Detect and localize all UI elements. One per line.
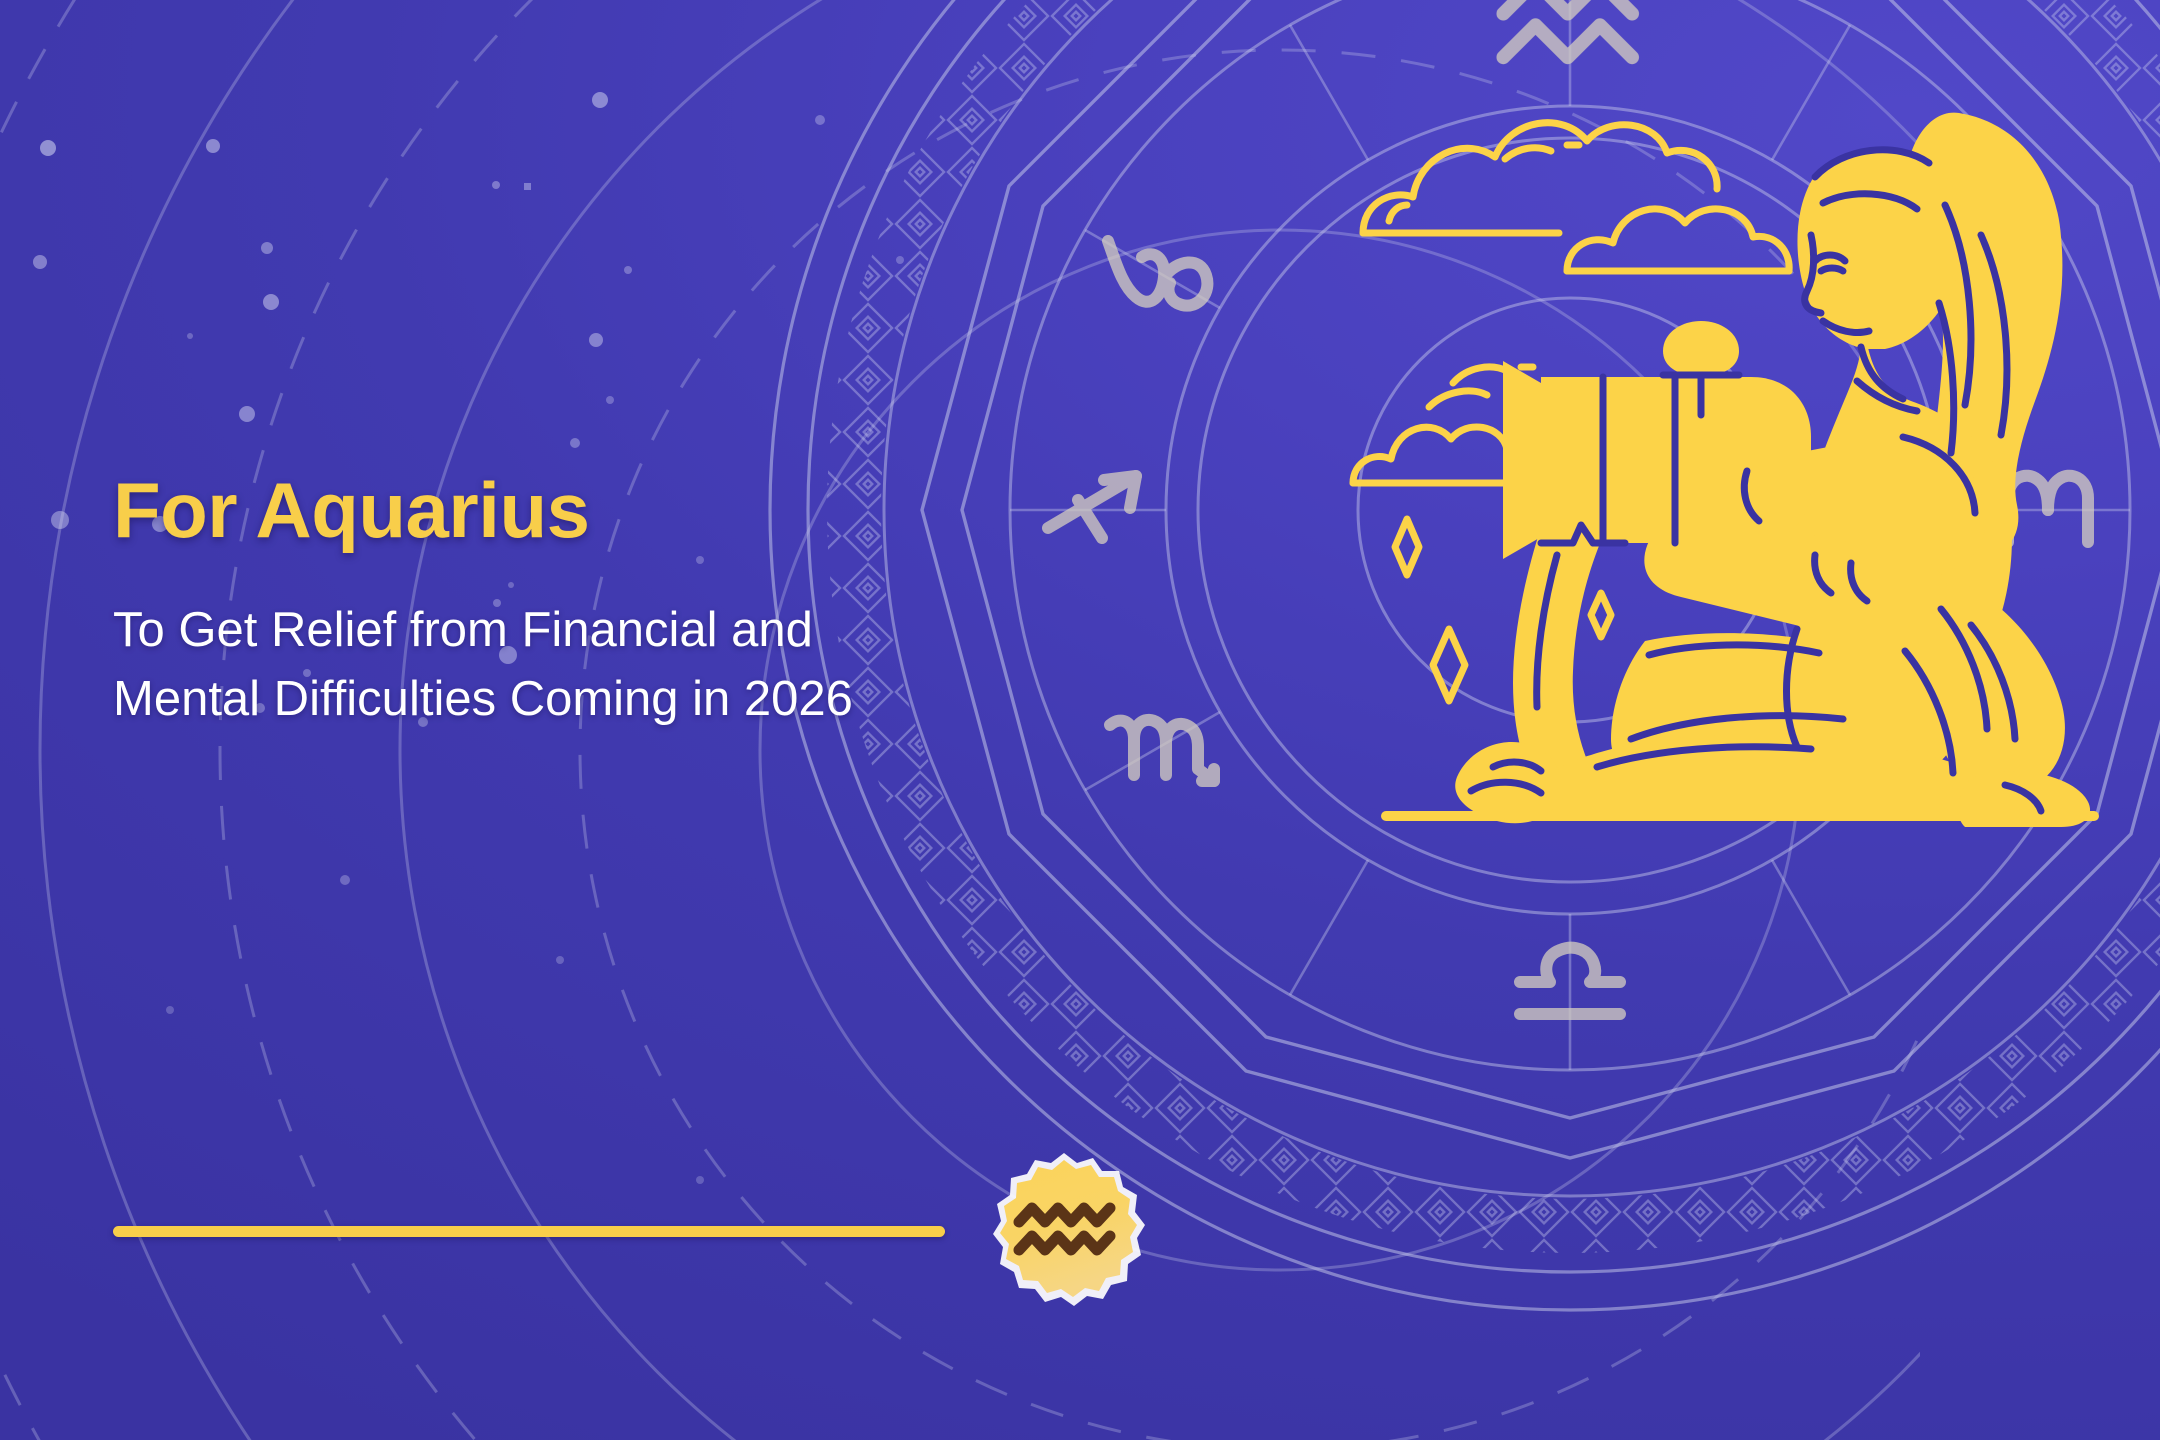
- scorpio-glyph: [1110, 720, 1214, 781]
- capricorn-glyph: [1108, 241, 1207, 306]
- yellow-divider-line: [113, 1226, 945, 1237]
- aquarius-glyph: [1503, 0, 1632, 57]
- banner-text-block: For Aquarius To Get Relief from Financia…: [113, 470, 1113, 735]
- aquarius-water-bearer-illustration: [1345, 85, 2125, 845]
- cloud-large: [1363, 123, 1717, 233]
- badge-seal-shape: [993, 1153, 1145, 1306]
- libra-glyph: [1520, 948, 1620, 1014]
- banner-headline: To Get Relief from Financial and Mental …: [113, 596, 873, 735]
- page-title: For Aquarius: [113, 470, 1113, 552]
- aquarius-zodiac-badge[interactable]: Aquarius: [983, 1150, 1145, 1312]
- cloud-medium: [1567, 209, 1789, 271]
- divider-badge-row: Aquarius: [113, 1196, 1173, 1376]
- aquarius-horoscope-banner: For Aquarius To Get Relief from Financia…: [0, 0, 2160, 1440]
